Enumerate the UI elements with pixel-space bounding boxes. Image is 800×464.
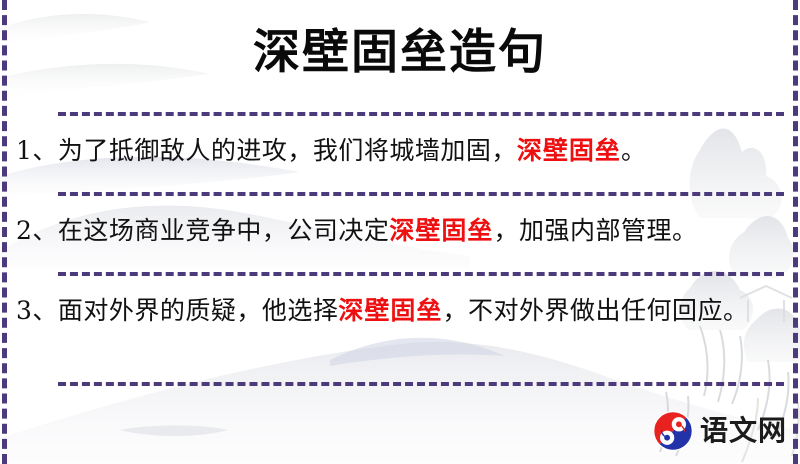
sentence-text-before: 为了抵御敌人的进攻，我们将城墙加固， bbox=[58, 136, 517, 165]
sentence-text-after: ，加强内部管理。 bbox=[493, 216, 697, 245]
sentence-text-before: 面对外界的质疑，他选择 bbox=[58, 296, 339, 325]
page-border-left bbox=[2, 0, 7, 464]
sentence-text-after: 。 bbox=[621, 136, 647, 165]
page-title: 深壁固垒造句 bbox=[0, 22, 800, 84]
yin-yang-logo-icon bbox=[652, 410, 694, 452]
sentence-index: 2、 bbox=[16, 216, 58, 245]
separator-3 bbox=[58, 272, 784, 276]
sentence-item: 2、在这场商业竞争中，公司决定深壁固垒，加强内部管理。 bbox=[16, 208, 786, 254]
highlighted-idiom: 深壁固垒 bbox=[389, 216, 493, 245]
sentence-text-before: 在这场商业竞争中，公司决定 bbox=[58, 216, 390, 245]
page-border-right bbox=[793, 0, 798, 464]
site-logo[interactable]: 语文网 bbox=[652, 408, 792, 454]
separator-2 bbox=[58, 192, 784, 196]
separator-4 bbox=[58, 382, 784, 386]
sentence-text-after: ，不对外界做出任何回应。 bbox=[442, 296, 748, 325]
logo-text: 语文网 bbox=[700, 410, 787, 452]
separator-1 bbox=[58, 112, 784, 116]
highlighted-idiom: 深壁固垒 bbox=[338, 296, 442, 325]
sentence-index: 1、 bbox=[16, 136, 58, 165]
highlighted-idiom: 深壁固垒 bbox=[517, 136, 621, 165]
sentence-index: 3、 bbox=[16, 296, 58, 325]
sentence-item: 1、为了抵御敌人的进攻，我们将城墙加固，深壁固垒。 bbox=[16, 128, 786, 174]
sentence-page: 深壁固垒造句 1、为了抵御敌人的进攻，我们将城墙加固，深壁固垒。 2、在这场商业… bbox=[0, 0, 800, 464]
sentence-item: 3、面对外界的质疑，他选择深壁固垒，不对外界做出任何回应。 bbox=[16, 288, 786, 334]
